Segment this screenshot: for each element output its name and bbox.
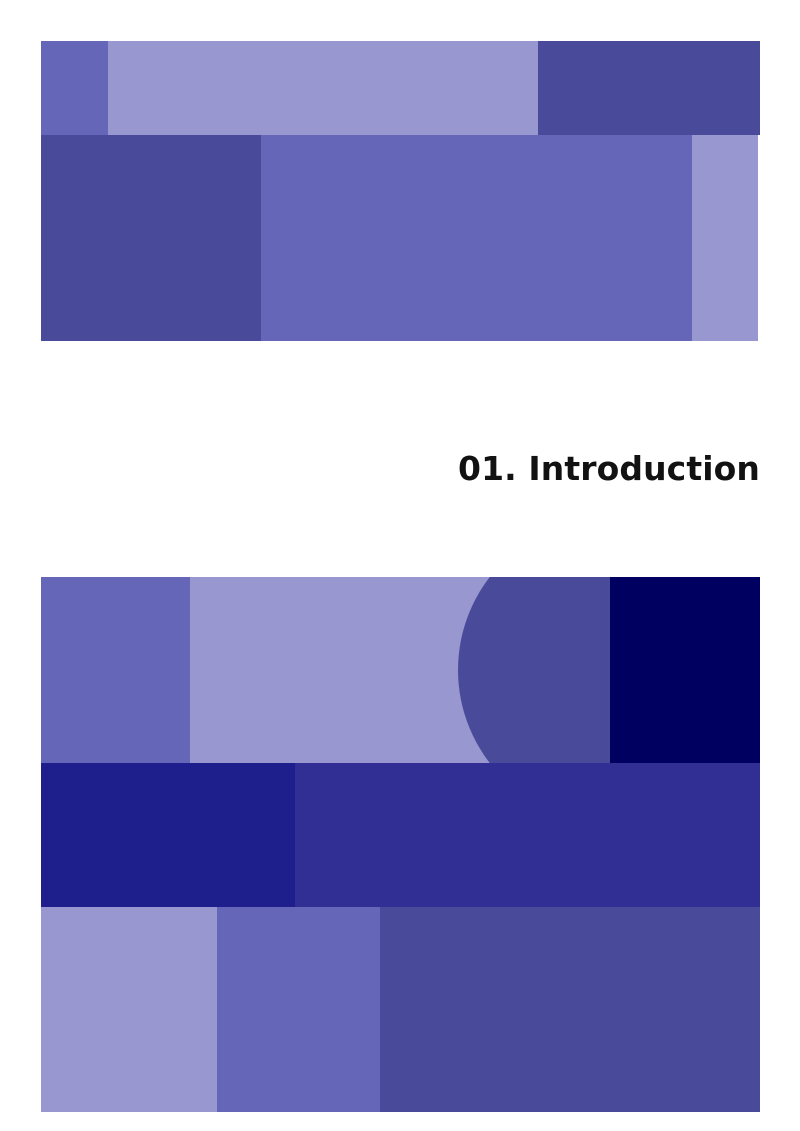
bottom-row3-block-a	[41, 907, 217, 1112]
bottom-row3-block-c	[380, 907, 760, 1112]
bottom-graphic-row-2	[41, 763, 760, 907]
page-canvas: 01. Introduction	[0, 0, 800, 1131]
bottom-row3-block-b	[217, 907, 380, 1112]
bottom-graphic-row-3	[41, 907, 760, 1112]
section-title: 01. Introduction	[40, 450, 760, 488]
bottom-row1-block-c	[610, 577, 760, 763]
bottom-abstract-graphic	[41, 577, 760, 1112]
top-row2-block-b	[261, 135, 692, 341]
top-row1-block-b	[108, 41, 538, 135]
top-row2-block-c	[692, 135, 758, 341]
bottom-row2-block-b	[295, 763, 760, 907]
bottom-graphic-row-1	[41, 577, 760, 763]
top-row2-block-a	[41, 135, 261, 341]
top-graphic-row-1	[41, 41, 760, 135]
top-row1-block-c	[538, 41, 760, 135]
top-row1-block-a	[41, 41, 108, 135]
top-graphic-row-2	[41, 135, 758, 341]
top-abstract-graphic	[41, 41, 760, 341]
bottom-row1-block-a	[41, 577, 190, 763]
bottom-row2-block-a	[41, 763, 295, 907]
